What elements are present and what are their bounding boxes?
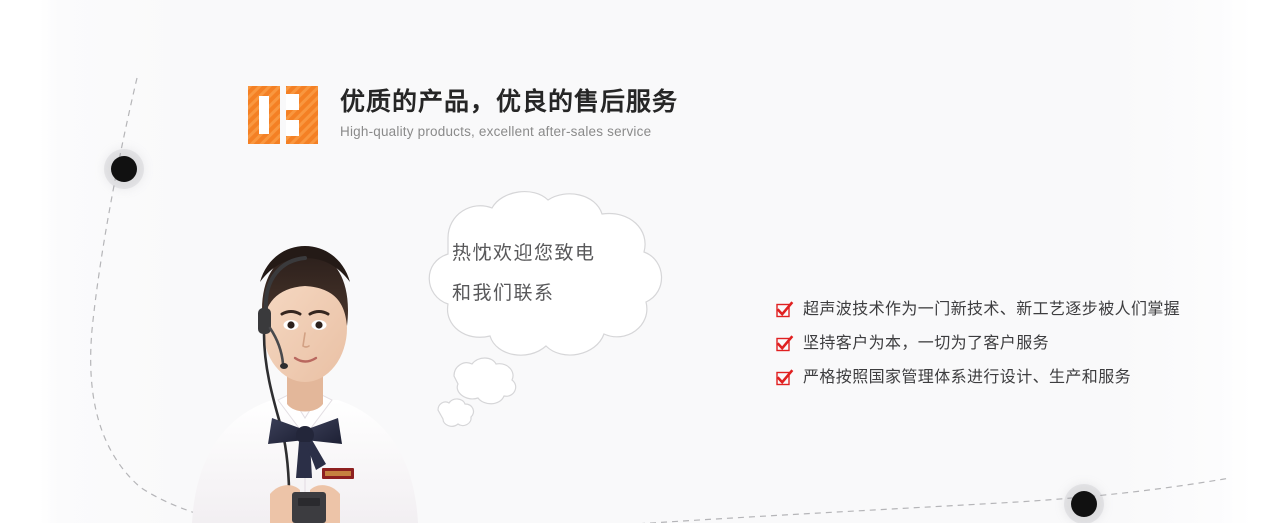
feature-label: 严格按照国家管理体系进行设计、生产和服务	[803, 366, 1131, 390]
feature-list: 超声波技术作为一门新技术、新工艺逐步被人们掌握 坚持客户为本，一切为了客户服务 …	[776, 298, 1216, 390]
bubble-text: 热忱欢迎您致电 和我们联系	[452, 234, 652, 314]
heading-text-group: 优质的产品，优良的售后服务 High-quality products, exc…	[340, 86, 678, 140]
check-box-icon	[776, 370, 792, 386]
customer-service-photo	[186, 178, 424, 523]
service-section: 优质的产品，优良的售后服务 High-quality products, exc…	[0, 0, 1280, 523]
page-subtitle: High-quality products, excellent after-s…	[340, 123, 678, 140]
feature-label: 超声波技术作为一门新技术、新工艺逐步被人们掌握	[803, 298, 1180, 322]
step-number-badge	[248, 86, 318, 144]
page-title: 优质的产品，优良的售后服务	[340, 87, 678, 117]
list-item: 严格按照国家管理体系进行设计、生产和服务	[776, 366, 1216, 390]
section-heading: 优质的产品，优良的售后服务 High-quality products, exc…	[248, 86, 678, 144]
check-box-icon	[776, 336, 792, 352]
feature-label: 坚持客户为本，一切为了客户服务	[803, 332, 1049, 356]
check-box-icon	[776, 302, 792, 318]
list-item: 坚持客户为本，一切为了客户服务	[776, 332, 1216, 356]
thought-bubble-group: 热忱欢迎您致电 和我们联系	[396, 186, 696, 436]
bubble-line-2: 和我们联系	[452, 274, 652, 314]
bubble-line-1: 热忱欢迎您致电	[452, 234, 652, 274]
list-item: 超声波技术作为一门新技术、新工艺逐步被人们掌握	[776, 298, 1216, 322]
